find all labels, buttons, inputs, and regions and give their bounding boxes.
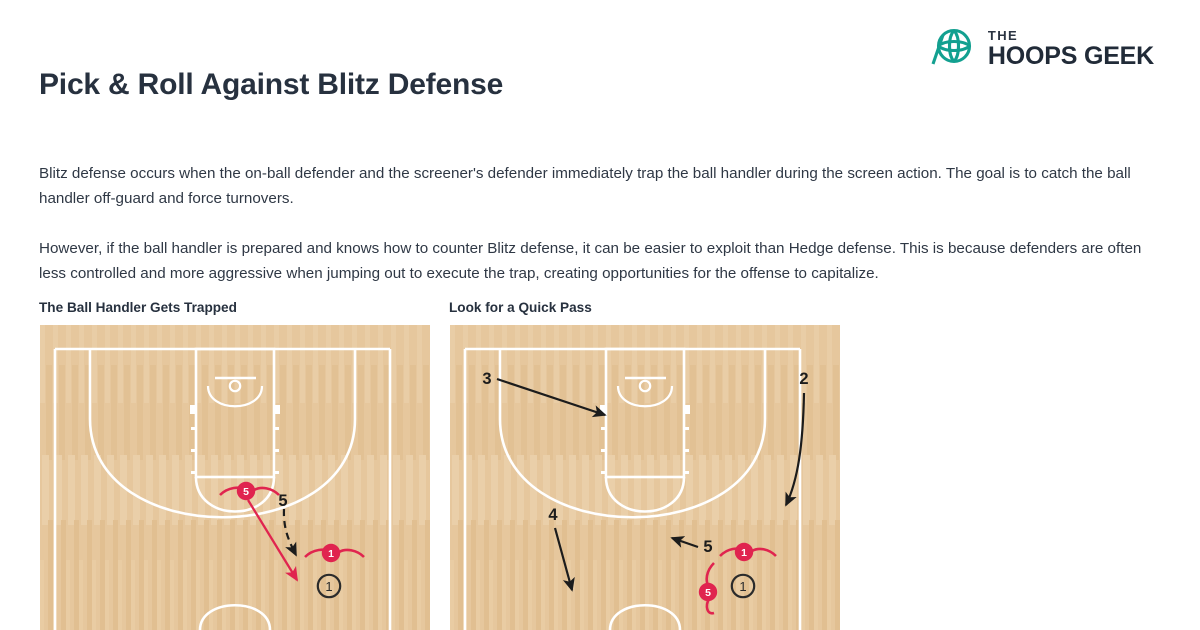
court-diagram-trapped: 5 5 1 1 — [40, 325, 430, 630]
annotation-label-5: 5 — [278, 492, 287, 510]
annotation-label-5: 5 — [703, 538, 712, 556]
offense-1-label: 1 — [739, 579, 746, 594]
logo-the-text: THE — [988, 29, 1154, 42]
defender-1-label: 1 — [328, 548, 334, 560]
annotation-label-3: 3 — [482, 370, 491, 388]
defender-5-label: 5 — [705, 587, 711, 599]
court-diagram-quick-pass: 3 2 4 5 1 5 1 — [450, 325, 840, 630]
annotation-label-4: 4 — [548, 506, 558, 524]
page-title: Pick & Roll Against Blitz Defense — [39, 68, 503, 102]
defender-5-label: 5 — [243, 486, 249, 498]
diagram-heading-right: Look for a Quick Pass — [449, 300, 592, 315]
basketball-icon — [929, 26, 975, 72]
annotation-label-2: 2 — [799, 370, 808, 388]
diagram-heading-left: The Ball Handler Gets Trapped — [39, 300, 237, 315]
logo-name-text: HOOPS GEEK — [988, 44, 1154, 69]
intro-paragraph-2: However, if the ball handler is prepared… — [39, 236, 1149, 286]
defender-1-label: 1 — [741, 547, 747, 559]
intro-paragraph-1: Blitz defense occurs when the on-ball de… — [39, 161, 1149, 211]
site-logo[interactable]: THE HOOPS GEEK — [929, 26, 1154, 72]
offense-1-label: 1 — [325, 579, 332, 594]
